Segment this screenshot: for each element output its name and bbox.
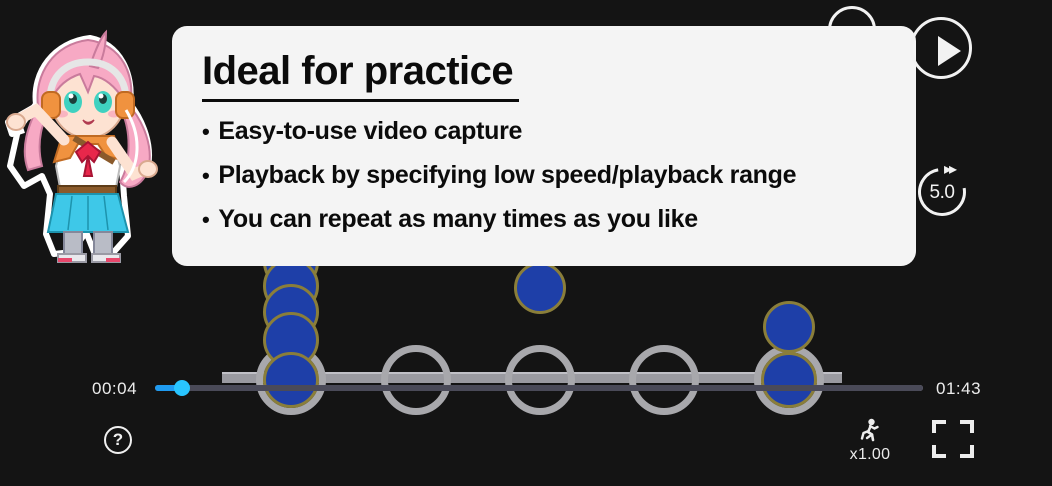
- seek-buffer: [155, 385, 923, 391]
- playback-speed-label: x1.00: [850, 446, 891, 463]
- ball-marker: [763, 301, 815, 353]
- fullscreen-corner-top-right-icon: [960, 420, 974, 433]
- fullscreen-corner-bottom-right-icon: [960, 445, 974, 458]
- info-card: Ideal for practice • Easy-to-use video c…: [172, 26, 916, 266]
- current-time-label: 00:04: [92, 379, 156, 399]
- list-item-label: You can repeat as many times as you like: [218, 205, 697, 233]
- chevron-double-right-icon: ▸▸: [944, 162, 954, 178]
- fullscreen-corner-top-left-icon: [932, 420, 946, 433]
- fullscreen-button[interactable]: [932, 420, 974, 458]
- play-triangle-icon: [938, 36, 961, 66]
- list-item-label: Playback by specifying low speed/playbac…: [218, 161, 796, 189]
- page-title: Ideal for practice: [202, 48, 519, 102]
- total-time-label: 01:43: [936, 379, 981, 399]
- card-title-wrap: Ideal for practice: [202, 48, 886, 102]
- seek-handle[interactable]: [174, 380, 190, 396]
- bullet-dot-icon: •: [202, 118, 209, 146]
- play-button[interactable]: [910, 17, 972, 79]
- playback-speed-button[interactable]: x1.00: [842, 418, 898, 464]
- list-item-label: Easy-to-use video capture: [218, 117, 522, 145]
- list-item: • You can repeat as many times as you li…: [202, 205, 886, 234]
- bullet-dot-icon: •: [202, 162, 209, 190]
- skip-forward-button[interactable]: ▸▸ 5.0: [918, 168, 966, 216]
- seek-slider[interactable]: [155, 385, 923, 391]
- fullscreen-corner-bottom-left-icon: [932, 445, 946, 458]
- ring-marker: [629, 345, 699, 415]
- running-man-icon: [859, 418, 881, 444]
- ball-marker: [761, 352, 817, 408]
- list-item: • Easy-to-use video capture: [202, 117, 886, 146]
- question-mark-icon: ?: [113, 430, 123, 449]
- ring-marker: [381, 345, 451, 415]
- ball-marker: [263, 352, 319, 408]
- bullet-dot-icon: •: [202, 206, 209, 234]
- help-button[interactable]: ?: [104, 426, 132, 454]
- list-item: • Playback by specifying low speed/playb…: [202, 161, 886, 190]
- mascot-character: [2, 26, 168, 266]
- video-player-screen: Ideal for practice • Easy-to-use video c…: [0, 0, 1052, 486]
- skip-forward-value: 5.0: [918, 182, 966, 204]
- ring-marker: [505, 345, 575, 415]
- ball-marker: [514, 262, 566, 314]
